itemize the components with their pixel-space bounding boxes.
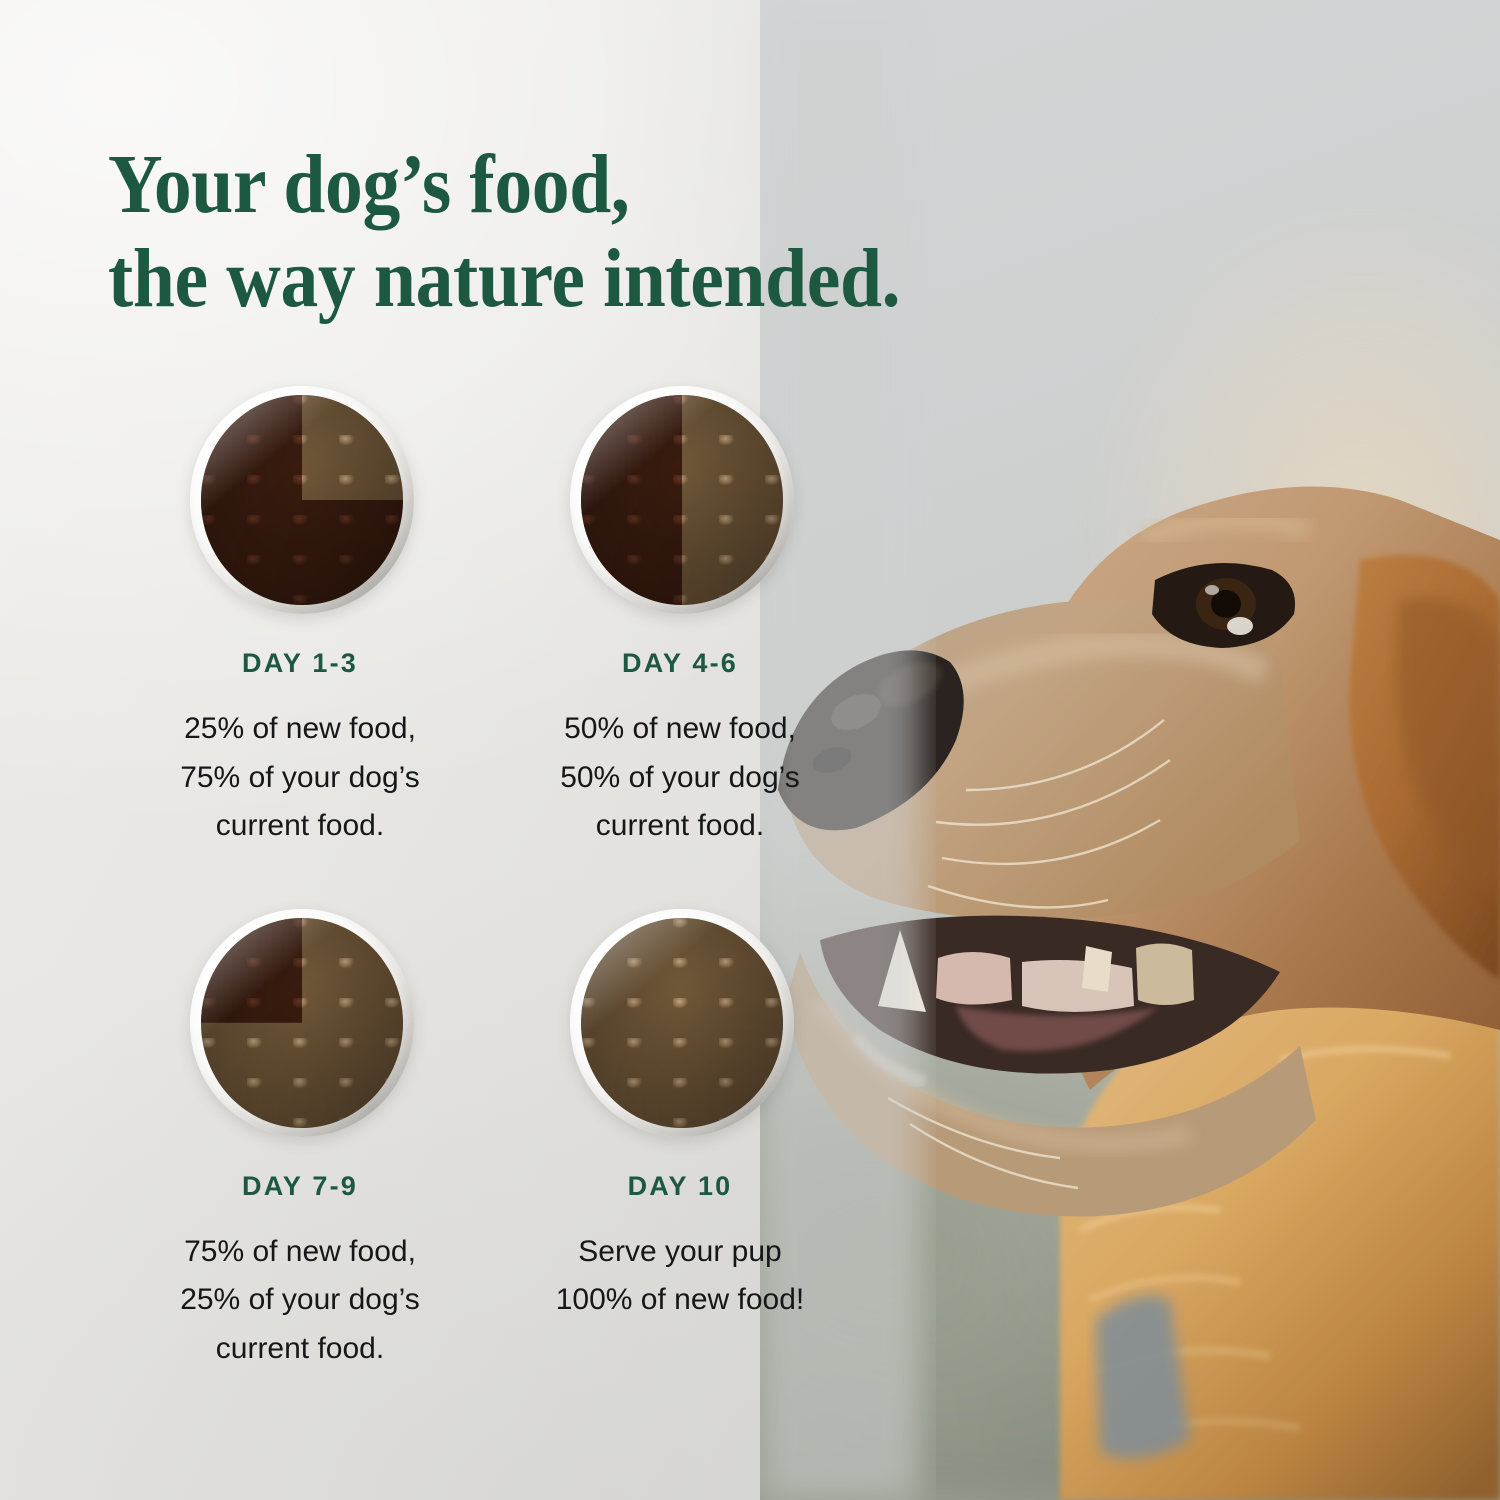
bowl-contents bbox=[201, 395, 403, 605]
day-label: DAY 1-3 bbox=[242, 648, 358, 679]
step-description: 50% of new food, 50% of your dog’s curre… bbox=[560, 705, 800, 851]
day-label: DAY 10 bbox=[628, 1171, 733, 1202]
step-row-bottom: DAY 7-9 75% of new food, 25% of your dog… bbox=[110, 905, 870, 1374]
transition-steps: DAY 1-3 25% of new food, 75% of your dog… bbox=[110, 382, 870, 1374]
bowl-dish bbox=[570, 909, 794, 1137]
page-title: Your dog’s food, the way nature intended… bbox=[108, 138, 1053, 326]
step-row-top: DAY 1-3 25% of new food, 75% of your dog… bbox=[110, 382, 870, 851]
bowl-dish bbox=[570, 386, 794, 614]
bowl-contents bbox=[581, 395, 783, 605]
step-day-10: DAY 10 Serve your pup 100% of new food! bbox=[490, 905, 870, 1374]
bowl-contents bbox=[581, 918, 783, 1128]
bowl-contents bbox=[201, 918, 403, 1128]
day-label: DAY 7-9 bbox=[242, 1171, 358, 1202]
step-day-4-6: DAY 4-6 50% of new food, 50% of your dog… bbox=[490, 382, 870, 851]
day-label: DAY 4-6 bbox=[622, 648, 738, 679]
bowl-day-7-9 bbox=[184, 905, 416, 1141]
step-day-1-3: DAY 1-3 25% of new food, 75% of your dog… bbox=[110, 382, 490, 851]
bowl-inner-shadow bbox=[581, 918, 783, 1128]
bowl-day-1-3 bbox=[184, 382, 416, 618]
step-description: Serve your pup 100% of new food! bbox=[556, 1228, 805, 1325]
bowl-day-4-6 bbox=[564, 382, 796, 618]
row-spacer bbox=[110, 851, 870, 905]
step-day-7-9: DAY 7-9 75% of new food, 25% of your dog… bbox=[110, 905, 490, 1374]
step-description: 25% of new food, 75% of your dog’s curre… bbox=[180, 705, 420, 851]
step-description: 75% of new food, 25% of your dog’s curre… bbox=[180, 1228, 420, 1374]
promo-image: Your dog’s food, the way nature intended… bbox=[0, 0, 1500, 1500]
bowl-dish bbox=[190, 386, 414, 614]
bowl-dish bbox=[190, 909, 414, 1137]
bowl-day-10 bbox=[564, 905, 796, 1141]
